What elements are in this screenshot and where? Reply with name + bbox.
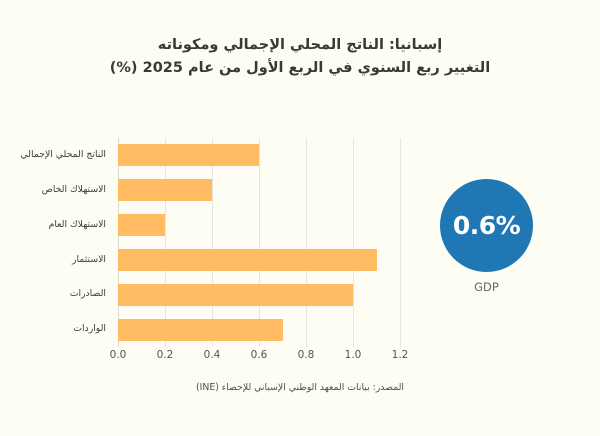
x-axis-tick-1: 0.2 <box>157 349 174 361</box>
y-axis-label-4: الصادرات <box>0 277 106 312</box>
bar-row <box>118 173 400 208</box>
bar-2[interactable] <box>118 214 165 236</box>
gridline <box>400 138 401 347</box>
x-axis-ticks: 0.00.20.40.60.81.01.2 <box>118 349 400 365</box>
y-axis-label-1: الاستهلاك الخاص <box>0 173 106 208</box>
x-axis-tick-3: 0.6 <box>251 349 268 361</box>
gdp-callout-value: 0.6% <box>453 211 520 240</box>
chart-page: إسبانيا: الناتج المحلي الإجمالي ومكوناته… <box>0 0 600 436</box>
x-axis-tick-0: 0.0 <box>110 349 127 361</box>
bar-row <box>118 138 400 173</box>
bar-4[interactable] <box>118 284 353 306</box>
bar-row <box>118 208 400 243</box>
source-note: المصدر: بيانات المعهد الوطني الإسباني لل… <box>0 382 600 393</box>
plot-area <box>118 138 400 347</box>
chart-title-line-2: التغيير ربع السنوي في الربع الأول من عام… <box>0 57 600 80</box>
bar-row <box>118 243 400 278</box>
x-axis-tick-6: 1.2 <box>392 349 409 361</box>
x-axis-tick-4: 0.8 <box>298 349 315 361</box>
bar-1[interactable] <box>118 179 212 201</box>
chart-title-line-1: إسبانيا: الناتج المحلي الإجمالي ومكوناته <box>0 34 600 57</box>
bar-0[interactable] <box>118 144 259 166</box>
x-axis-tick-5: 1.0 <box>345 349 362 361</box>
y-axis-label-0: الناتج المحلي الإجمالي <box>0 138 106 173</box>
y-axis-label-2: الاستهلاك العام <box>0 208 106 243</box>
x-axis-tick-2: 0.4 <box>204 349 221 361</box>
gdp-callout-circle: 0.6% <box>440 179 533 272</box>
bar-3[interactable] <box>118 249 377 271</box>
y-axis-labels: الناتج المحلي الإجماليالاستهلاك الخاصالا… <box>0 138 112 347</box>
gdp-callout-label: GDP <box>440 280 533 294</box>
y-axis-label-3: الاستثمار <box>0 243 106 278</box>
y-axis-label-5: الواردات <box>0 312 106 347</box>
gdp-callout: 0.6% GDP <box>440 179 533 272</box>
bar-row <box>118 277 400 312</box>
bar-row <box>118 312 400 347</box>
bar-5[interactable] <box>118 319 283 341</box>
chart-title: إسبانيا: الناتج المحلي الإجمالي ومكوناته… <box>0 34 600 80</box>
